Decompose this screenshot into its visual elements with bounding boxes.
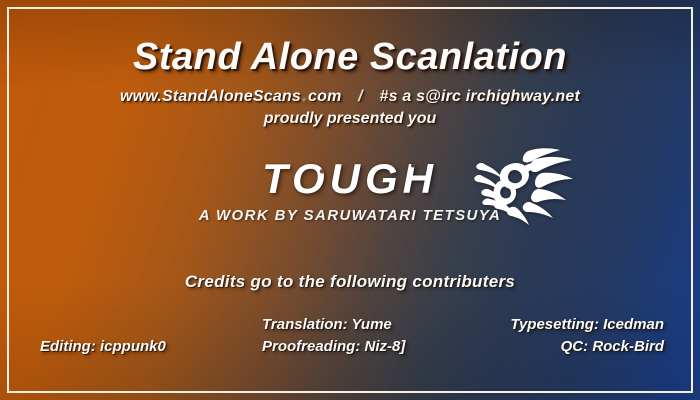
credit-line [40, 314, 166, 336]
credits-grid: Editing: icppunk0 Translation: Yume Proo… [14, 314, 686, 372]
credit-role: QC: [561, 338, 589, 355]
group-irc-channel: #s a s@irc irchighway.net [379, 88, 580, 105]
series-logo-block: TOUGH A WORK BY SARUWATARI TETSUYA [0, 155, 700, 235]
group-website-domain: www.StandAloneScans [120, 88, 301, 105]
censored-dot-icon: . [301, 88, 308, 106]
credit-value: Icedman [603, 316, 664, 333]
group-website-tld: com [308, 88, 342, 105]
credits-page: Stand Alone Scanlation www.StandAloneSca… [0, 0, 700, 400]
credit-role: Proofreading: [262, 338, 360, 355]
group-website-url: www.StandAloneScans.com [120, 88, 342, 105]
page-content: Stand Alone Scanlation www.StandAloneSca… [0, 0, 700, 400]
credit-value: Niz-8] [365, 338, 406, 355]
series-author-credit: A WORK BY SARUWATARI TETSUYA [0, 207, 700, 224]
credit-line-qc: QC: Rock-Bird [510, 336, 664, 358]
credit-line-translation: Translation: Yume [262, 314, 405, 336]
series-title: TOUGH [0, 155, 700, 203]
credit-role: Editing: [40, 338, 96, 355]
scanlation-group-title: Stand Alone Scanlation [0, 36, 700, 79]
contact-separator: / [346, 88, 375, 105]
credit-value: Yume [351, 316, 391, 333]
credit-line-editing: Editing: icppunk0 [40, 336, 166, 358]
credit-line-proofreading: Proofreading: Niz-8] [262, 336, 405, 358]
credit-value: icppunk0 [100, 338, 166, 355]
contact-line: www.StandAloneScans.com / #s a s@irc irc… [0, 88, 700, 106]
tribal-wing-ornament-icon [470, 147, 574, 225]
credit-role: Typesetting: [510, 316, 599, 333]
credits-heading: Credits go to the following contributers [0, 272, 700, 292]
credits-column-typesetting: Typesetting: Icedman QC: Rock-Bird [510, 314, 664, 358]
presented-by-line: proudly presented you [0, 110, 700, 128]
credits-column-editing: Editing: icppunk0 [40, 314, 166, 358]
credits-column-translation: Translation: Yume Proofreading: Niz-8] [262, 314, 405, 358]
credit-line-typesetting: Typesetting: Icedman [510, 314, 664, 336]
credit-value: Rock-Bird [592, 338, 664, 355]
credit-role: Translation: [262, 316, 348, 333]
